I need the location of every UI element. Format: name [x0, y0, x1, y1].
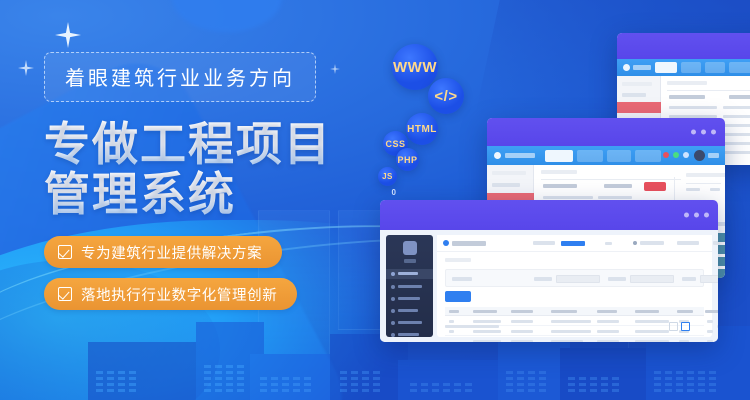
nav-tab[interactable] [681, 62, 701, 73]
primary-button[interactable] [644, 182, 666, 191]
page-button-active[interactable] [681, 322, 690, 331]
notification-icon[interactable] [663, 152, 669, 158]
tech-bubble-zero: 0 [387, 185, 401, 199]
chevron-down-icon[interactable] [605, 242, 612, 245]
app-topbar [617, 59, 750, 76]
user-avatar[interactable] [694, 150, 705, 161]
nav-tab[interactable] [607, 150, 631, 162]
nav-item-active[interactable] [561, 241, 585, 246]
tech-bubble-label: CSS [385, 139, 405, 149]
sparkle-icon [55, 22, 81, 48]
nav-tab-active[interactable] [545, 150, 573, 162]
app-topbar [487, 146, 725, 165]
tech-bubble-label: HTML [407, 124, 437, 135]
tech-bubble-php: PHP [396, 148, 419, 171]
nav-tab-active[interactable] [655, 62, 677, 73]
settings-icon[interactable] [683, 152, 689, 158]
tech-bubble-code: </> [428, 78, 464, 114]
browser-chrome-bar [617, 33, 750, 59]
app-logo-icon [443, 240, 449, 246]
window-controls[interactable] [691, 130, 716, 135]
breadcrumb [445, 258, 471, 262]
sidebar[interactable] [386, 235, 433, 337]
headline-line-2: 管理系统 [44, 169, 364, 219]
feature-badge-list: 专为建筑行业提供解决方案 落地执行行业数字化管理创新 [44, 236, 364, 310]
page-button[interactable] [669, 322, 678, 331]
tech-bubble-label: 0 [392, 188, 397, 197]
table-column-header [597, 310, 617, 313]
table-column-header [551, 310, 577, 313]
page-title: 专做工程项目 管理系统 [44, 119, 364, 219]
table-header-row [445, 307, 704, 316]
filter-label [608, 277, 626, 281]
nav-tab[interactable] [635, 150, 661, 162]
promo-banner: 着眼建筑行业业务方向 专做工程项目 管理系统 专为建筑行业提供解决方案 落地执行… [0, 0, 750, 400]
filter-label [682, 277, 696, 281]
tech-bubble-label: PHP [397, 155, 417, 165]
tagline-text: 着眼建筑行业业务方向 [65, 62, 295, 91]
checkbox-checked-icon [58, 287, 72, 301]
filter-input[interactable] [700, 275, 718, 283]
nav-tab[interactable] [729, 62, 750, 73]
add-button[interactable] [445, 291, 471, 302]
tech-bubble-label: WWW [393, 59, 437, 76]
table-column-header [449, 310, 459, 313]
checkbox-checked-icon [58, 245, 72, 259]
table-column-header [473, 310, 497, 313]
tech-bubble-label: JS [382, 172, 393, 181]
table-column-header [705, 310, 718, 313]
message-icon[interactable] [673, 152, 679, 158]
header-nav[interactable] [437, 235, 712, 252]
table-footer [445, 322, 704, 332]
browser-chrome-bar [380, 200, 718, 230]
feature-badge-label: 落地执行行业数字化管理创新 [81, 284, 277, 305]
table-column-header [635, 310, 659, 313]
nav-item[interactable] [640, 241, 664, 245]
record-count [445, 325, 499, 328]
feature-badge-label: 专为建筑行业提供解决方案 [81, 242, 262, 263]
browser-chrome-bar [487, 118, 725, 146]
main-panel [437, 235, 712, 337]
table-row[interactable] [445, 336, 704, 342]
tech-bubble-html: HTML [406, 113, 438, 145]
tech-bubble-www: WWW [392, 44, 438, 90]
filter-bar[interactable] [445, 269, 704, 287]
nav-item[interactable] [533, 241, 555, 245]
copy-block: 着眼建筑行业业务方向 专做工程项目 管理系统 专为建筑行业提供解决方案 落地执行… [44, 52, 364, 310]
sparkle-icon [18, 60, 34, 76]
headline-line-1: 专做工程项目 [44, 119, 364, 169]
filter-label [452, 277, 472, 281]
filter-label [534, 277, 552, 281]
nav-icon[interactable] [633, 241, 637, 245]
feature-badge[interactable]: 专为建筑行业提供解决方案 [44, 236, 282, 268]
app-window [380, 230, 718, 342]
bg-top-blob [172, 0, 282, 32]
nav-item[interactable] [713, 241, 718, 245]
filter-input[interactable] [630, 275, 674, 283]
tech-bubble-label: </> [434, 88, 457, 105]
nav-item[interactable] [677, 241, 699, 245]
table-column-header [677, 310, 693, 313]
page-size-label[interactable] [717, 325, 718, 328]
tech-bubble-js: JS [378, 167, 397, 186]
nav-tab[interactable] [705, 62, 725, 73]
window-controls[interactable] [684, 213, 709, 218]
table-column-header [511, 310, 533, 313]
sidebar-item-active[interactable] [617, 102, 661, 113]
nav-tab[interactable] [577, 150, 603, 162]
app-name [452, 241, 486, 246]
logo-icon [403, 241, 417, 255]
dashboard-front[interactable] [380, 200, 718, 342]
filter-input[interactable] [556, 275, 600, 283]
tagline-box: 着眼建筑行业业务方向 [44, 52, 316, 102]
feature-badge[interactable]: 落地执行行业数字化管理创新 [44, 278, 297, 310]
